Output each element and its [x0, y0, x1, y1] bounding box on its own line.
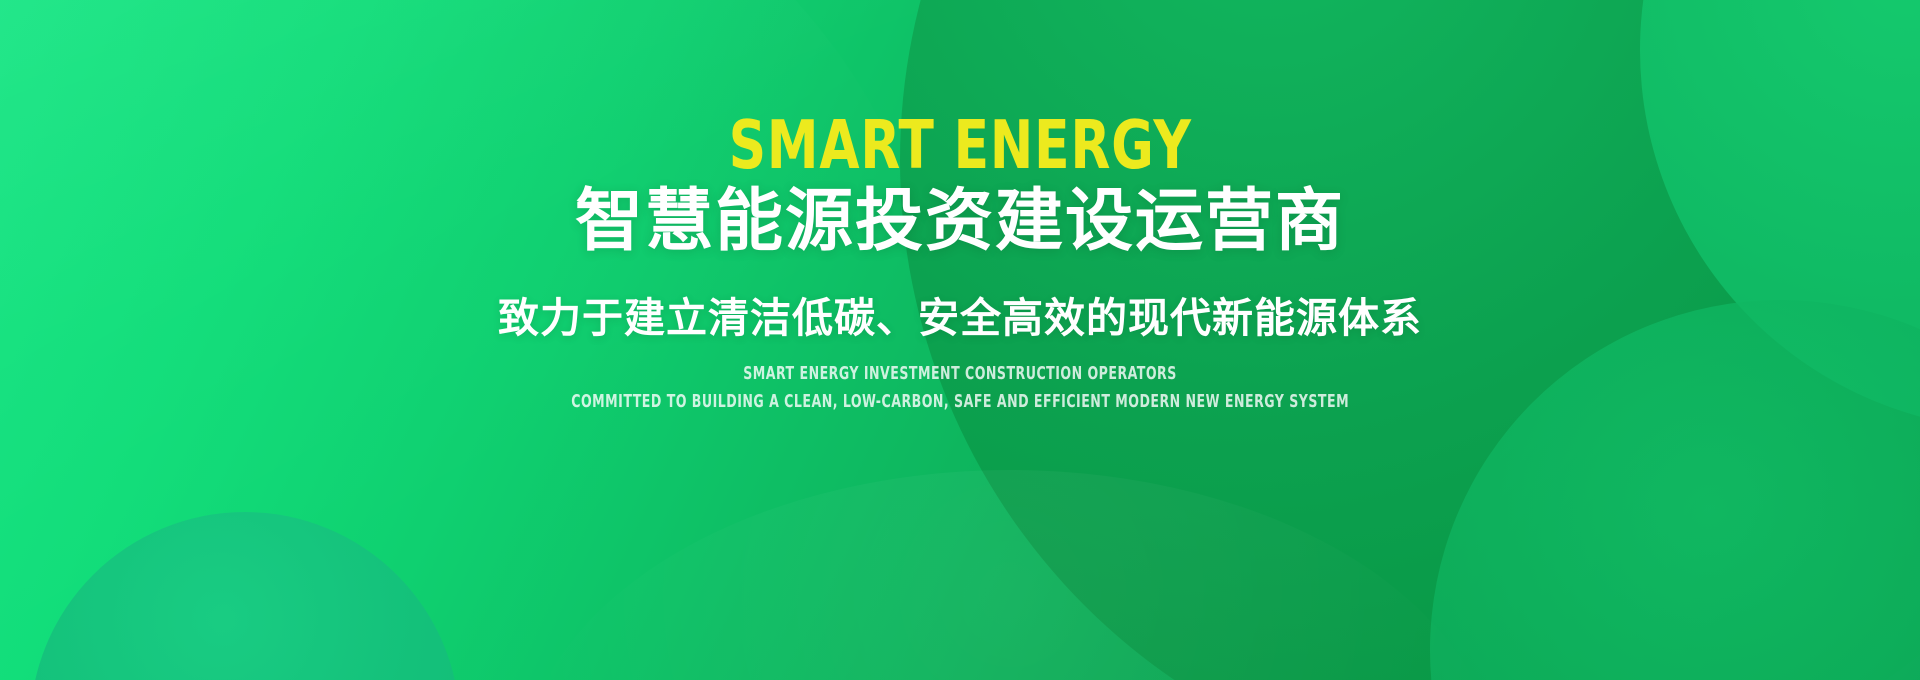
banner-subtitle-chinese: 致力于建立清洁低碳、安全高效的现代新能源体系 — [498, 294, 1422, 343]
banner-caption-english-secondary: COMMITTED TO BUILDING A CLEAN, LOW-CARBO… — [571, 394, 1349, 412]
banner-content: SMART ENERGY 智慧能源投资建设运营商 致力于建立清洁低碳、安全高效的… — [0, 0, 1920, 680]
banner-caption-english-primary: SMART ENERGY INVESTMENT CONSTRUCTION OPE… — [743, 366, 1177, 384]
banner-title-chinese: 智慧能源投资建设运营商 — [575, 185, 1345, 258]
banner-title-english: SMART ENERGY — [728, 112, 1191, 179]
hero-banner: SMART ENERGY 智慧能源投资建设运营商 致力于建立清洁低碳、安全高效的… — [0, 0, 1920, 680]
